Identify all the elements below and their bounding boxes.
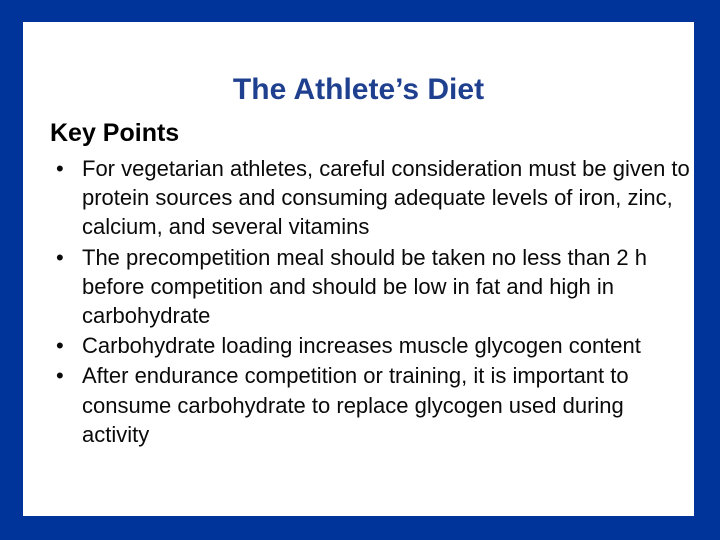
slide-body: Key Points • For vegetarian athletes, ca…	[50, 118, 690, 450]
slide-content-panel: The Athlete’s Diet Key Points • For vege…	[23, 22, 694, 516]
slide-title: The Athlete’s Diet	[23, 73, 694, 107]
list-item-text: Carbohydrate loading increases muscle gl…	[82, 331, 690, 360]
list-item-text: The precompetition meal should be taken …	[82, 243, 690, 331]
bullet-dot-icon: •	[56, 154, 72, 183]
bullet-dot-icon: •	[56, 331, 72, 360]
list-item: • The precompetition meal should be take…	[50, 243, 690, 331]
list-item: • After endurance competition or trainin…	[50, 361, 690, 449]
list-item: • For vegetarian athletes, careful consi…	[50, 154, 690, 242]
key-points-bullet-list: • For vegetarian athletes, careful consi…	[50, 154, 690, 449]
slide-canvas: The Athlete’s Diet Key Points • For vege…	[0, 0, 720, 540]
list-item: • Carbohydrate loading increases muscle …	[50, 331, 690, 360]
bullet-dot-icon: •	[56, 361, 72, 390]
list-item-text: After endurance competition or training,…	[82, 361, 690, 449]
bullet-dot-icon: •	[56, 243, 72, 272]
section-heading-key-points: Key Points	[50, 118, 690, 148]
list-item-text: For vegetarian athletes, careful conside…	[82, 154, 690, 242]
